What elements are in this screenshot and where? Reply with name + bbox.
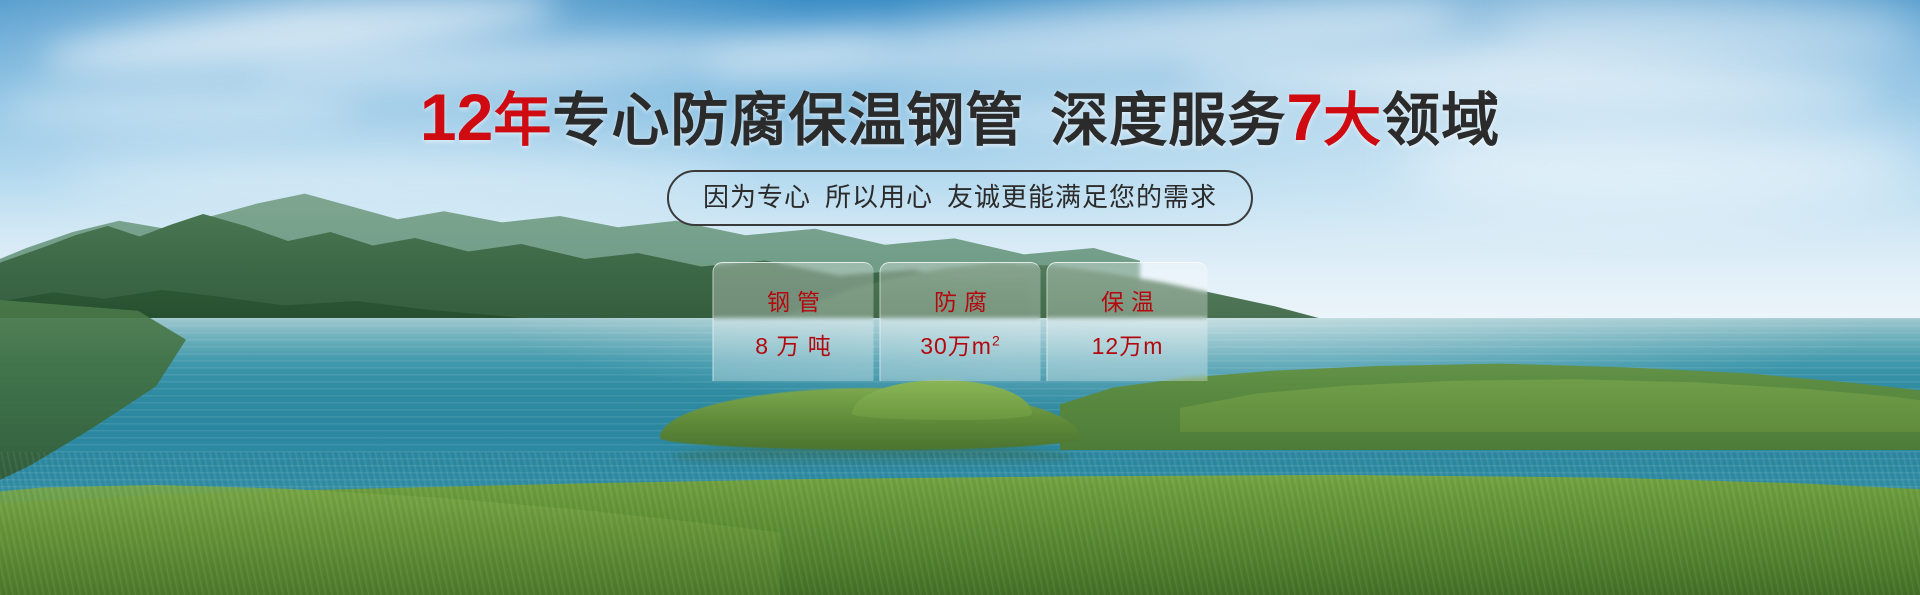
headline-years-number: 12 [420, 80, 493, 154]
cloud-wisp [60, 150, 740, 210]
stat-value-text: 12万m [1092, 333, 1164, 359]
tagline-pill: 因为专心所以用心友诚更能满足您的需求 [667, 170, 1253, 226]
stat-card-anticorrosion: 防腐 30万m2 [880, 262, 1041, 381]
stat-card-group: 钢管 8 万 吨 防腐 30万m2 保温 12万m [713, 262, 1208, 381]
grass-blade-texture [0, 452, 1920, 595]
stat-value-text: 8 万 吨 [755, 333, 832, 359]
stat-label: 防腐 [927, 283, 994, 317]
tagline-segment-2: 所以用心 [825, 182, 933, 212]
stat-value: 12万m [1092, 327, 1164, 361]
stat-label: 保温 [1094, 283, 1161, 317]
headline-segment-primary: 专心防腐保温钢管 [552, 88, 1024, 153]
stat-value: 8 万 吨 [755, 327, 832, 361]
banner-headline: 12年专心防腐保温钢管深度服务7大领域 [0, 86, 1920, 152]
hero-banner: 12年专心防腐保温钢管深度服务7大领域 因为专心所以用心友诚更能满足您的需求 钢… [0, 0, 1920, 595]
headline-fields-unit: 大 [1323, 88, 1382, 153]
headline-fields-number: 7 [1286, 80, 1323, 154]
headline-segment-fields: 领域 [1382, 88, 1500, 153]
tagline-segment-3: 友诚更能满足您的需求 [947, 182, 1217, 212]
stat-value-text: 30万m [920, 333, 992, 359]
stat-card-insulation: 保温 12万m [1047, 262, 1208, 381]
headline-segment-service: 深度服务 [1050, 88, 1286, 153]
stat-card-steel-pipe: 钢管 8 万 吨 [713, 262, 874, 381]
headline-years-unit: 年 [493, 88, 552, 153]
cloud-wisp [1500, 0, 1920, 70]
stat-label: 钢管 [760, 283, 827, 317]
stat-value: 30万m2 [920, 327, 1001, 361]
stat-value-exponent: 2 [992, 332, 1001, 348]
tagline-segment-1: 因为专心 [703, 182, 811, 212]
